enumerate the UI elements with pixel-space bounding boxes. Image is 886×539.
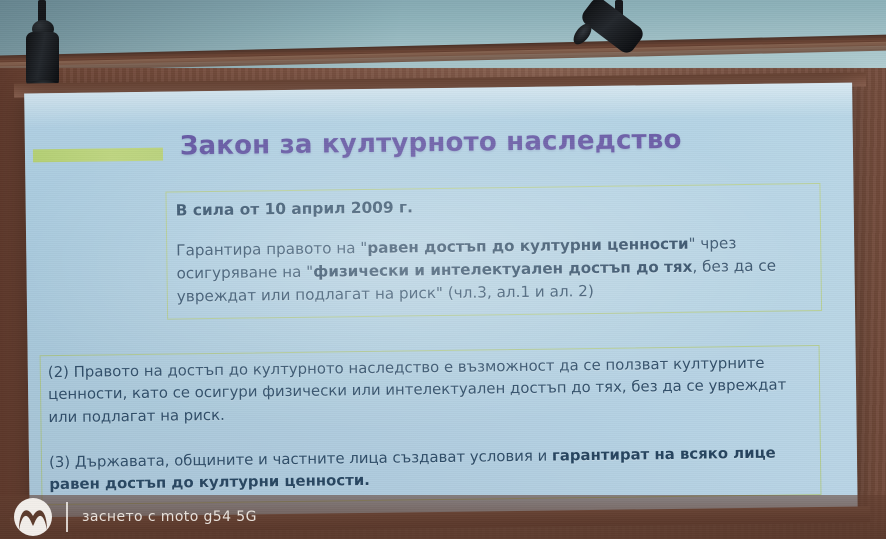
article-paragraph-2: (2) Правото на достъп до културното насл…: [48, 351, 819, 428]
title-accent-bar: [33, 148, 163, 163]
track-spotlight-left-icon: [8, 0, 78, 92]
motorola-batwing-icon: [14, 498, 52, 536]
photograph-scene: Закон за културното наследство В сила от…: [0, 0, 886, 539]
guarantee-paragraph: Гарантира правото на "равен достъп до ку…: [176, 231, 812, 308]
slide-title: Закон за културното наследство: [180, 123, 820, 161]
track-spotlight-right-icon: [575, 0, 665, 72]
watermark-divider: [66, 502, 68, 532]
watermark-text: заснето с moto g54 5G: [82, 509, 257, 525]
projection-screen: Закон за културното наследство В сила от…: [24, 83, 858, 531]
camera-watermark-bar: заснето с moto g54 5G: [0, 495, 886, 539]
